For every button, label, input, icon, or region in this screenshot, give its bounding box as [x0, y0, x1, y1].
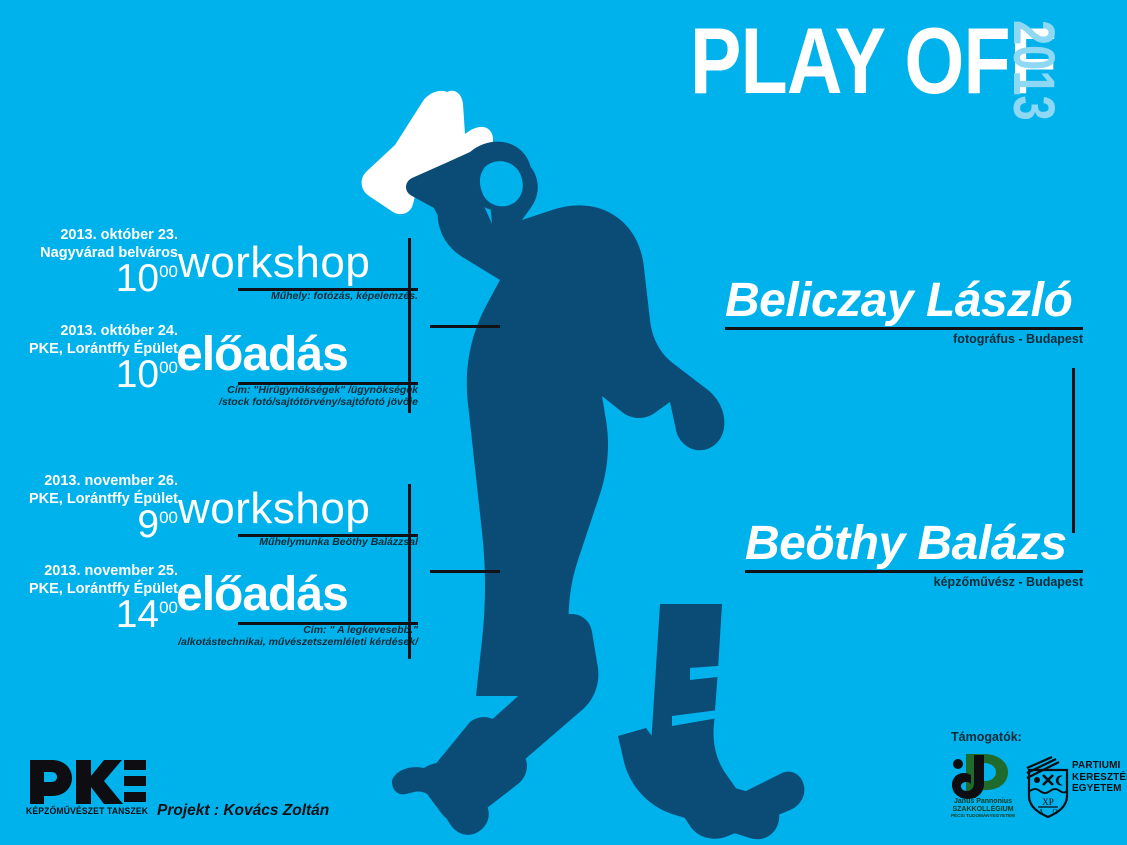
figure-hood-inner — [480, 161, 523, 206]
entry-1-minutes: 00 — [159, 262, 178, 281]
year-label: 2013 — [1004, 20, 1062, 121]
bracket-line-top — [408, 238, 411, 413]
bracket-tick-top — [430, 325, 500, 328]
entry-1-time: 1000 — [116, 252, 178, 298]
entry-3-hour: 9 — [137, 503, 159, 546]
bracket-tick-bottom — [430, 570, 500, 573]
entry-3-time: 900 — [137, 498, 178, 544]
figure-front-leg — [451, 614, 599, 794]
entry-2-note: Cím: "Hírügynökségek" /ügynökségek /stoc… — [188, 384, 418, 408]
entry-2-date: 2013. október 24. — [60, 323, 178, 339]
shield-monogram-right: Ω — [1052, 808, 1057, 816]
partium-university-name: PARTIUMI KERESZTÉNY EGYETEM — [1072, 760, 1127, 795]
project-credit: Projekt : Kovács Zoltán — [157, 802, 329, 820]
entry-4-hour: 14 — [116, 593, 159, 636]
entry-2-time: 1000 — [116, 348, 178, 394]
entry-1-note: Műhely: fotózás, képelemzés. — [198, 290, 418, 302]
entry-1-hour: 10 — [116, 257, 159, 300]
presenter-2-name: Beöthy Balázs — [745, 518, 1083, 570]
shield-waves-icon — [1030, 789, 1067, 793]
poster-canvas: PLAY OFF 2013 2013. október 23. Nagyvára… — [0, 0, 1127, 845]
pke-department-logo — [28, 758, 146, 804]
entry-4-note-line2: /alkotástechnikai, művészetszemléleti ké… — [178, 636, 418, 648]
shield-sun-icon — [1034, 777, 1040, 783]
presenter-1-role: fotográfus - Budapest — [725, 330, 1083, 347]
janus-pannonius-caption: Janus Pannonius SZAKKOLLÉGIUM PÉCSI TUDO… — [941, 798, 1025, 819]
entry-1-date: 2013. október 23. — [60, 227, 178, 243]
partium-university-shield-logo: XP A Ω — [1026, 756, 1070, 818]
entry-4-time: 1400 — [116, 588, 178, 634]
university-line1: PARTIUMI — [1072, 760, 1127, 772]
janus-pannonius-logo — [944, 752, 1022, 800]
jp-caption-line1: Janus Pannonius — [941, 798, 1025, 806]
university-line3: EGYETEM — [1072, 783, 1127, 795]
figure-body — [438, 155, 725, 696]
presenter-2-role: képzőművész - Budapest — [745, 573, 1083, 590]
entry-3-note: Műhelymunka Beöthy Balázzsal — [188, 536, 418, 548]
figure-front-boot — [425, 717, 527, 823]
sponsors-label: Támogatók: — [951, 730, 1022, 744]
entry-2-kind: előadás — [176, 330, 348, 380]
schedule-list: 2013. október 23. Nagyvárad belváros 100… — [0, 0, 440, 845]
pke-department-subtitle: KÉPZŐMŰVÉSZET TANSZEK — [26, 806, 148, 816]
entry-3-minutes: 00 — [159, 508, 178, 527]
figure-rear-boot — [618, 728, 779, 839]
university-line2: KERESZTÉNY — [1072, 772, 1127, 784]
entry-4-note: Cím: " A legkevesebb." /alkotástechnikai… — [178, 624, 418, 648]
presenter-1-name: Beliczay László — [725, 275, 1083, 327]
shield-moon-icon — [1056, 776, 1063, 786]
entry-4-kind: előadás — [176, 570, 348, 620]
entry-4-note-line1: Cím: " A legkevesebb." — [303, 624, 418, 636]
figure-knee-cut — [690, 664, 744, 680]
entry-1-note-line1: Műhely: fotózás, képelemzés. — [271, 290, 418, 302]
shield-monogram-left: A — [1038, 808, 1043, 816]
shield-monogram-top: XP — [1042, 797, 1054, 807]
figure-rear-leg — [652, 604, 805, 839]
bracket-line-bottom — [408, 484, 411, 659]
shield-stripes-icon — [1027, 757, 1059, 778]
entry-2-note-line2: /stock fotó/sajtótörvény/sajtófotó jövőj… — [188, 396, 418, 408]
figure-boot-cuff-cut — [672, 710, 718, 726]
presenter-connector-line — [1072, 368, 1075, 533]
presenter-2: Beöthy Balázs képzőművész - Budapest — [745, 518, 1083, 590]
entry-2-hour: 10 — [116, 353, 159, 396]
entry-3-note-line1: Műhelymunka Beöthy Balázzsal — [259, 536, 418, 548]
shield-cross-icon — [1043, 775, 1053, 785]
entry-2-note-line1: Cím: "Hírügynökségek" /ügynökségek — [227, 384, 418, 396]
entry-1-kind: workshop — [178, 240, 370, 286]
entry-3-date: 2013. november 26. — [44, 473, 178, 489]
entry-4-date: 2013. november 25. — [44, 563, 178, 579]
jp-caption-line2: SZAKKOLLÉGIUM — [941, 806, 1025, 814]
presenter-1: Beliczay László fotográfus - Budapest — [725, 275, 1083, 347]
jp-caption-line3: PÉCSI TUDOMÁNYEGYETEM — [941, 813, 1025, 819]
entry-3-kind: workshop — [178, 486, 370, 532]
